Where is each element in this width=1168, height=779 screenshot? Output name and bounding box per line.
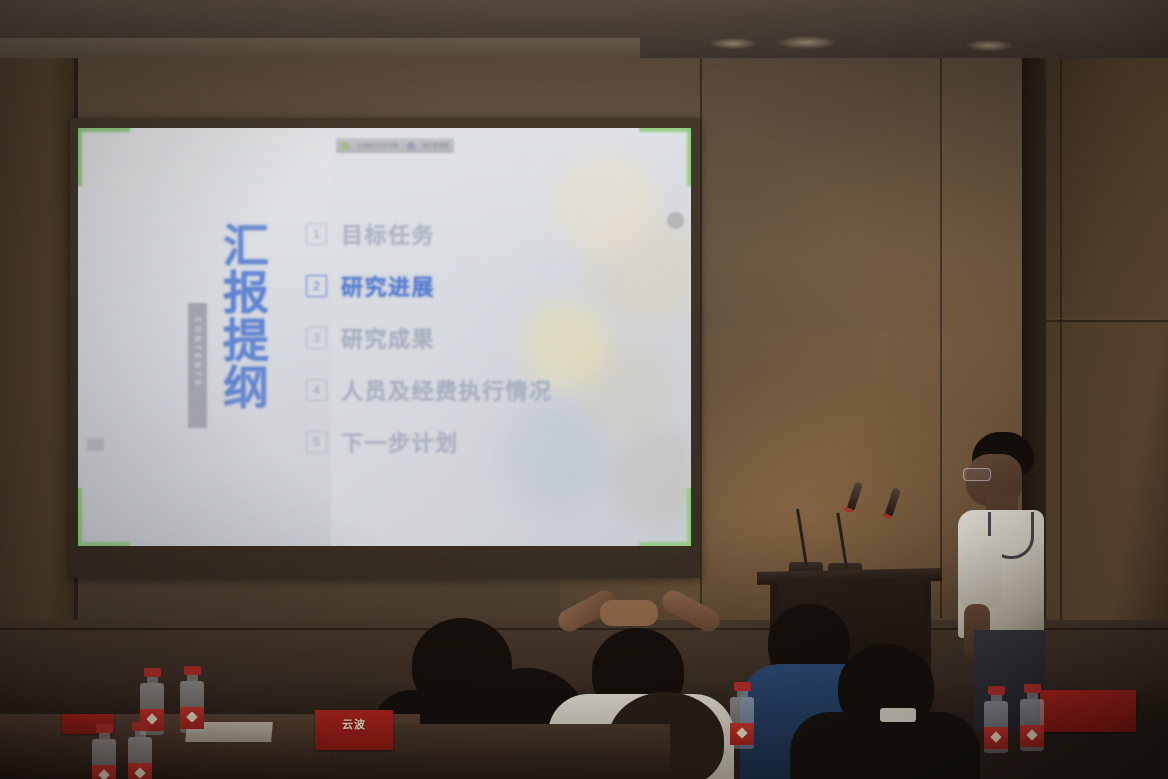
audience-collar xyxy=(880,708,916,722)
bottle-label xyxy=(1020,725,1044,747)
agenda-label: 目标任务 xyxy=(341,218,435,250)
conference-room-photo: 从当前幻灯片开始 演示者视图 CONTENTS 汇报提纲 1 目标任务 2 xyxy=(0,0,1168,779)
bottle-label xyxy=(730,723,754,745)
alignment-mark-bottom-left xyxy=(78,542,130,546)
presenter xyxy=(948,432,1068,732)
name-card: 云波 xyxy=(315,710,393,750)
alignment-mark-bottom-right xyxy=(639,542,691,546)
contents-bar: CONTENTS xyxy=(188,303,207,428)
alignment-mark-top-right xyxy=(639,128,691,132)
bottle-body xyxy=(1020,699,1044,751)
agenda-number: 3 xyxy=(306,327,327,349)
water-bottle xyxy=(1020,684,1044,751)
water-bottle xyxy=(92,724,116,779)
ceiling-downlight xyxy=(778,36,836,49)
slide-title: 汇报提纲 xyxy=(211,223,281,413)
toolbar-button-1-label[interactable]: 从当前幻灯片开始 xyxy=(357,142,399,149)
alignment-mark-top-left xyxy=(78,128,82,186)
bottle-body xyxy=(984,701,1008,753)
bottle-label xyxy=(128,763,152,779)
agenda-number: 2 xyxy=(306,275,327,297)
agenda-item-2[interactable]: 2 研究进展 xyxy=(306,260,666,312)
bottle-cap xyxy=(184,666,201,675)
agenda-item-3[interactable]: 3 研究成果 xyxy=(306,312,666,364)
water-bottle xyxy=(730,682,754,749)
water-bottle xyxy=(984,686,1008,753)
agenda-list: 1 目标任务 2 研究进展 3 研究成果 4 人员及经费执行情况 5 xyxy=(306,208,666,468)
contents-label: CONTENTS xyxy=(193,317,202,388)
presentation-toolbar[interactable]: 从当前幻灯片开始 演示者视图 xyxy=(336,138,454,153)
agenda-item-5[interactable]: 5 下一步计划 xyxy=(306,416,666,468)
agenda-item-4[interactable]: 4 人员及经费执行情况 xyxy=(306,364,666,416)
play-slideshow-icon[interactable] xyxy=(341,142,349,150)
next-slide-button[interactable] xyxy=(667,212,684,229)
bottle-label xyxy=(984,727,1008,749)
bottle-cap xyxy=(144,668,161,677)
bottle-cap xyxy=(734,682,751,691)
presentation-slide[interactable]: 从当前幻灯片开始 演示者视图 CONTENTS 汇报提纲 1 目标任务 2 xyxy=(78,128,691,546)
panel-seam xyxy=(700,58,702,618)
presenter-view-icon[interactable] xyxy=(407,142,415,150)
left-wall-panel xyxy=(0,58,78,698)
projection-screen[interactable]: 从当前幻灯片开始 演示者视图 CONTENTS 汇报提纲 1 目标任务 2 xyxy=(78,128,691,546)
bottle-label xyxy=(180,707,204,729)
agenda-number: 1 xyxy=(306,223,327,245)
agenda-item-1[interactable]: 1 目标任务 xyxy=(306,208,666,260)
agenda-label: 人员及经费执行情况 xyxy=(341,374,553,406)
panel-seam xyxy=(940,58,942,618)
agenda-label: 研究进展 xyxy=(341,270,435,302)
bottle-body xyxy=(730,697,754,749)
alignment-mark-bottom-left xyxy=(78,488,82,546)
bottle-label xyxy=(92,765,116,779)
agenda-label: 下一步计划 xyxy=(341,426,459,458)
presenter-sleeve xyxy=(958,536,1002,608)
name-card-text: 云波 xyxy=(315,716,393,732)
agenda-number: 4 xyxy=(306,379,327,401)
glasses-icon xyxy=(963,468,991,481)
audience-shoulders xyxy=(790,712,980,779)
bottle-cap xyxy=(988,686,1005,695)
bottle-body xyxy=(180,681,204,733)
panel-seam-highlight xyxy=(1046,318,1168,319)
bottle-cap xyxy=(96,724,113,733)
ceiling-downlight xyxy=(966,40,1012,51)
alignment-mark-top-right xyxy=(687,128,691,186)
bottle-cap xyxy=(132,722,149,731)
bottle-body xyxy=(92,739,116,779)
bottle-body xyxy=(128,737,152,779)
ceiling-downlight xyxy=(710,38,756,49)
toolbar-button-2-label[interactable]: 演示者视图 xyxy=(423,142,449,149)
bottle-cap xyxy=(1024,684,1041,693)
agenda-number: 5 xyxy=(306,431,327,453)
panel-seam xyxy=(1046,320,1168,322)
water-bottle xyxy=(180,666,204,733)
alignment-mark-bottom-right xyxy=(687,488,691,546)
audience-hand xyxy=(600,600,658,626)
agenda-label: 研究成果 xyxy=(341,322,435,354)
water-bottle xyxy=(128,722,152,779)
alignment-mark-top-left xyxy=(78,128,130,132)
slide-corner-tag[interactable] xyxy=(87,438,104,451)
name-card xyxy=(1040,690,1136,732)
